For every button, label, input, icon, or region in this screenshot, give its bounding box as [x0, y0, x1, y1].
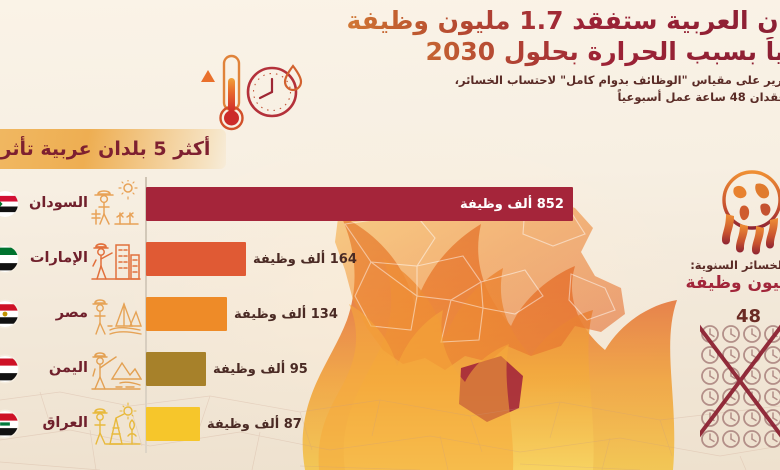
table-row: الإمارات [0, 232, 700, 287]
mountain-worker-icon [90, 345, 142, 391]
farmer-sun-icon [90, 180, 142, 226]
thermometer-glyph [221, 56, 243, 129]
bar-value-label: 164 ألف وظيفة [253, 252, 357, 267]
country-label: العراق [26, 415, 88, 431]
construction-worker-icon [90, 235, 142, 281]
oil-worker-icon [90, 400, 142, 446]
bar-yemen [146, 352, 206, 386]
annual-losses-block: الخسائر السنوية: ليون وظيفة [640, 258, 780, 293]
country-label: الإمارات [26, 250, 88, 266]
bar-iraq [146, 407, 200, 441]
melting-globe-icon [712, 166, 780, 258]
bar-value-label: 852 ألف وظيفة [460, 197, 564, 212]
section-header-most-affected: أكثر 5 بلدان عربية تأثراً [0, 129, 226, 169]
clock-grid-icon [700, 322, 780, 450]
country-label: مصر [26, 305, 88, 321]
flag-uae [0, 246, 18, 272]
flag-yemen [0, 356, 18, 382]
table-row: السودان [0, 177, 700, 232]
subtitle-line2: ل فقدان 48 ساعة عمل أسبوعياً [300, 89, 780, 105]
annual-losses-value: ليون وظيفة [640, 273, 780, 293]
bar-chart: السودان [0, 175, 700, 460]
farmer-pyramids-icon [90, 290, 142, 336]
page-title-line2: وياً بسبب الحرارة بحلول 2030 [300, 37, 780, 68]
subtitle-line1: لتقرير على مقياس "الوظائف بدوام كامل" لا… [300, 72, 780, 88]
bar-value-label: 134 ألف وظيفة [234, 307, 338, 322]
table-row: اليمن [0, 342, 700, 397]
bar-uae [146, 242, 246, 276]
country-label: السودان [26, 195, 88, 211]
bar-value-label: 95 ألف وظيفة [213, 362, 308, 377]
bar-egypt [146, 297, 227, 331]
clock-icon [248, 68, 296, 116]
flag-sudan [0, 191, 18, 217]
thermometer-icon [196, 48, 308, 134]
bar-value-label: 87 ألف وظيفة [207, 417, 302, 432]
header: دان العربية ستفقد 1.7 مليون وظيفة وياً ب… [300, 6, 780, 106]
flag-iraq [0, 411, 18, 437]
page-title-line1: دان العربية ستفقد 1.7 مليون وظيفة [300, 6, 780, 37]
table-row: العراق [0, 397, 700, 452]
country-label: اليمن [26, 360, 88, 376]
section-header-label: أكثر 5 بلدان عربية تأثراً [0, 138, 210, 160]
annual-losses-label: الخسائر السنوية: [640, 258, 780, 272]
table-row: مصر [0, 287, 700, 342]
flag-egypt [0, 301, 18, 327]
infographic-canvas: دان العربية ستفقد 1.7 مليون وظيفة وياً ب… [0, 0, 780, 470]
